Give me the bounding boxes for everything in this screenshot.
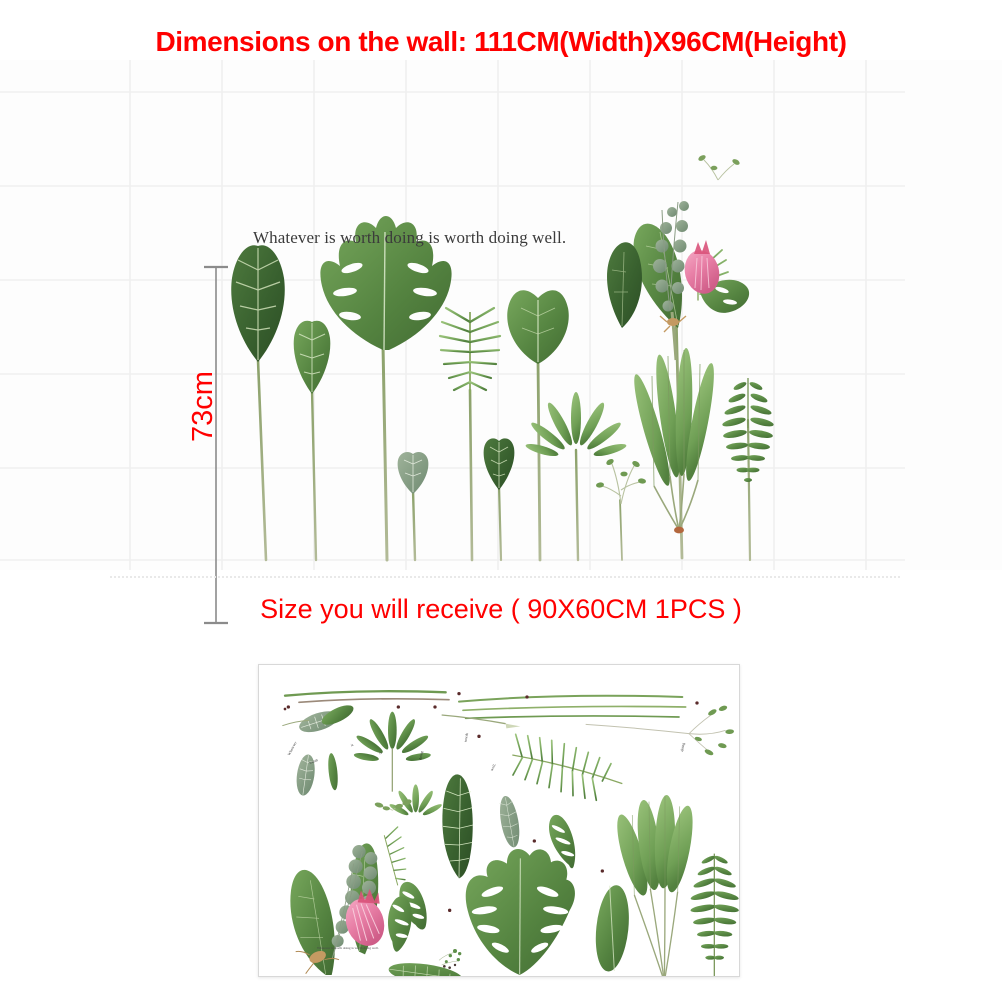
- sheet-micro-quote-text: Whatever is worth doing is worth doing w…: [317, 946, 379, 950]
- height-dimension-line: [196, 255, 236, 635]
- tropical-plants-illustration: [0, 60, 1002, 570]
- section-divider: [110, 576, 900, 578]
- decal-sheet-photo: Whatever worth is is worth doing well. d…: [258, 664, 740, 977]
- wall-quote-text: Whatever is worth doing is worth doing w…: [253, 228, 566, 248]
- wall-preview-scene: Whatever is worth doing is worth doing w…: [0, 60, 1002, 570]
- plant-alocasia-left: [231, 245, 285, 362]
- plant-palm-frond: [440, 308, 500, 394]
- plant-veined-leaf: [484, 438, 515, 490]
- plant-twig-small-leaves: [596, 458, 647, 504]
- plant-leaf-bundle-tied: [628, 348, 719, 534]
- product-dimension-infographic: Dimensions on the wall: 111CM(Width)X96C…: [0, 0, 1002, 1002]
- height-dimension-label: 73cm: [187, 371, 220, 442]
- plant-split-leaf-small: [294, 321, 331, 394]
- plant-elephant-ear: [507, 290, 569, 364]
- received-size-title: Size you will receive ( 90X60CM 1PCS ): [0, 594, 1002, 625]
- wall-dimensions-title: Dimensions on the wall: 111CM(Width)X96C…: [0, 26, 1002, 58]
- decal-sheet-artwork: Whatever worth is is worth doing well. d…: [259, 665, 739, 976]
- plant-calathea-small: [398, 452, 429, 494]
- plant-fan-palm: [525, 392, 628, 459]
- plant-bouquet-protea: [607, 201, 749, 360]
- plant-small-sprig-right: [697, 154, 740, 180]
- bundle-tie: [674, 527, 684, 534]
